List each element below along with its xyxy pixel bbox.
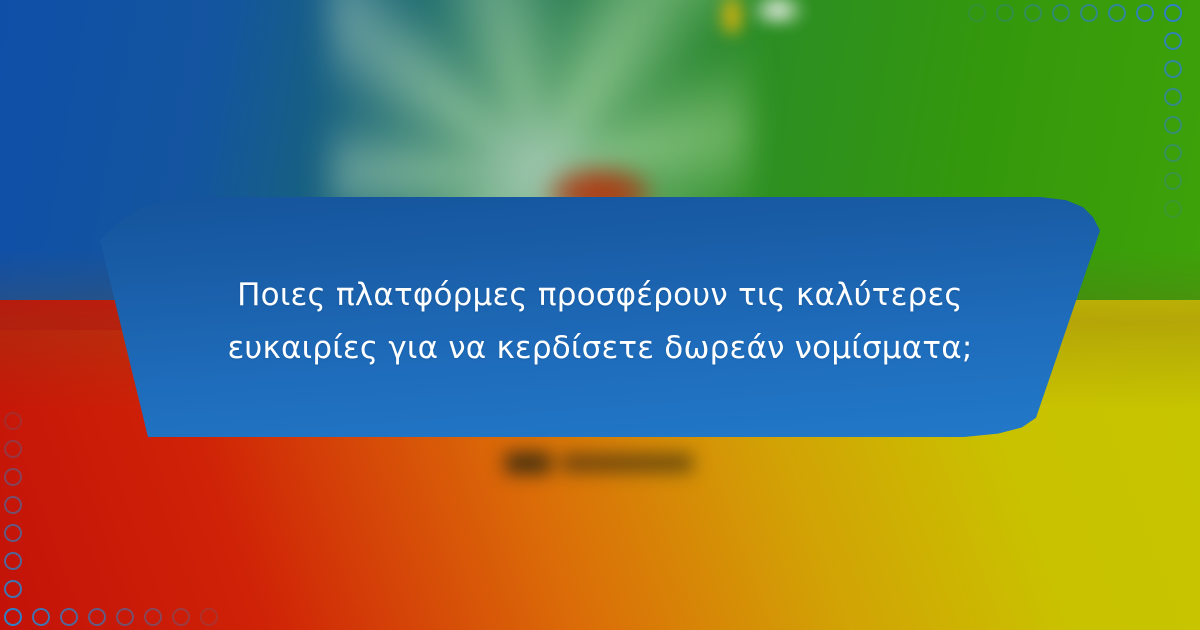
dot-top-row-1 <box>1136 4 1154 22</box>
dot-bottom-row-2 <box>60 608 78 626</box>
dot-top-row-5 <box>1024 4 1042 22</box>
dot-left-col-5 <box>4 468 22 486</box>
dot-left-col-6 <box>4 440 22 458</box>
share-card-canvas: Ποιες πλατφόρμες προσφέρουν τις καλύτερε… <box>0 0 1200 630</box>
dot-left-col-7 <box>4 412 22 430</box>
dot-top-row-4 <box>1052 4 1070 22</box>
question-text: Ποιες πλατφόρμες προσφέρουν τις καλύτερε… <box>100 269 1100 375</box>
dot-bottom-row-3 <box>88 608 106 626</box>
dot-top-row-3 <box>1080 4 1098 22</box>
background-white-speck <box>750 0 806 24</box>
dot-right-col-3 <box>1164 88 1182 106</box>
question-line-2: ευκαιρίες για να κερδίσετε δωρεάν νομίσμ… <box>218 322 982 375</box>
dot-left-col-3 <box>4 524 22 542</box>
dot-right-col-5 <box>1164 144 1182 162</box>
dot-left-col-4 <box>4 496 22 514</box>
dot-bottom-row-1 <box>32 608 50 626</box>
dot-right-col-7 <box>1164 200 1182 218</box>
dot-left-col-2 <box>4 552 22 570</box>
dot-left-col-1 <box>4 580 22 598</box>
blurred-caption <box>505 448 700 480</box>
dot-bottom-row-4 <box>116 608 134 626</box>
dot-right-col-6 <box>1164 172 1182 190</box>
dot-top-row-7 <box>968 4 986 22</box>
dot-top-row-6 <box>996 4 1014 22</box>
dot-top-row-2 <box>1108 4 1126 22</box>
background-yellow-speck <box>716 0 748 36</box>
dot-right-col-2 <box>1164 60 1182 78</box>
question-line-1: Ποιες πλατφόρμες προσφέρουν τις καλύτερε… <box>218 269 982 322</box>
dot-bottom-row-6 <box>172 608 190 626</box>
dot-bottom-row-7 <box>200 608 218 626</box>
dot-bottom-row-5 <box>144 608 162 626</box>
dot-top-row-0 <box>1164 4 1182 22</box>
dot-bottom-row-0 <box>4 608 22 626</box>
dot-right-col-1 <box>1164 32 1182 50</box>
question-card: Ποιες πλατφόρμες προσφέρουν τις καλύτερε… <box>100 197 1100 437</box>
dot-right-col-4 <box>1164 116 1182 134</box>
